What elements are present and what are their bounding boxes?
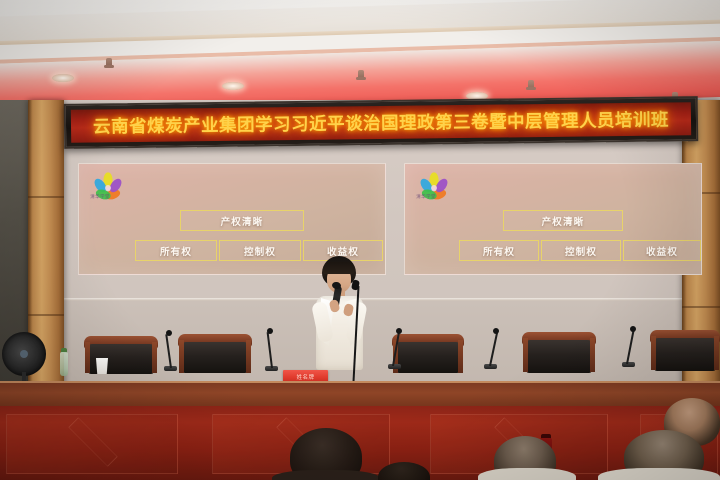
stage-chair [654, 330, 716, 370]
downlight-icon [222, 82, 244, 90]
logo-caption: 清华学堂 [411, 194, 441, 201]
microphone-base [622, 362, 635, 367]
stage-chair [526, 332, 592, 372]
fan-hub [20, 350, 28, 358]
stage-table-top [0, 368, 720, 382]
sprinkler-head-icon [528, 80, 534, 89]
sprinkler-head-icon [358, 70, 364, 79]
banner-title-text: 云南省煤炭产业集团学习习近平谈治国理政第三卷暨中层管理人员培训班 [93, 106, 669, 138]
stage-chair [396, 334, 460, 372]
sprinkler-head-icon [106, 58, 112, 67]
downlight-icon [52, 74, 74, 82]
audience-shoulder [598, 468, 720, 480]
slide-top-box: 产权清晰 [180, 210, 304, 231]
stage-chair [182, 334, 248, 372]
microphone-head-icon [267, 328, 273, 334]
microphone-head-icon [493, 328, 499, 334]
conference-hall-photo: 云南省煤炭产业集团学习习近平谈治国理政第三卷暨中层管理人员培训班 清华学堂 产权… [0, 0, 720, 480]
slide-box-control: 控制权 [541, 240, 621, 261]
presenter-figure [303, 256, 375, 384]
logo-caption: 清华学堂 [85, 194, 115, 201]
slide-box-control: 控制权 [219, 240, 301, 261]
audience-shoulder [272, 470, 380, 480]
audience-shoulder [478, 468, 576, 480]
projection-screen-right: 清华学堂 产权清晰 所有权 控制权 收益权 [404, 163, 702, 275]
slide-box-revenue: 收益权 [623, 240, 701, 261]
microphone-head-icon [396, 328, 402, 334]
microphone-head-icon [630, 326, 636, 332]
microphone-head-icon [166, 330, 172, 336]
led-banner-screen: 云南省煤炭产业集团学习习近平谈治国理政第三卷暨中层管理人员培训班 [71, 102, 691, 143]
led-banner-frame: 云南省煤炭产业集团学习习近平谈治国理政第三卷暨中层管理人员培训班 [64, 96, 699, 149]
slide-box-ownership: 所有权 [459, 240, 539, 261]
slide-box-ownership: 所有权 [135, 240, 217, 261]
presenter-fringe [323, 262, 355, 274]
slide-top-box: 产权清晰 [503, 210, 623, 231]
